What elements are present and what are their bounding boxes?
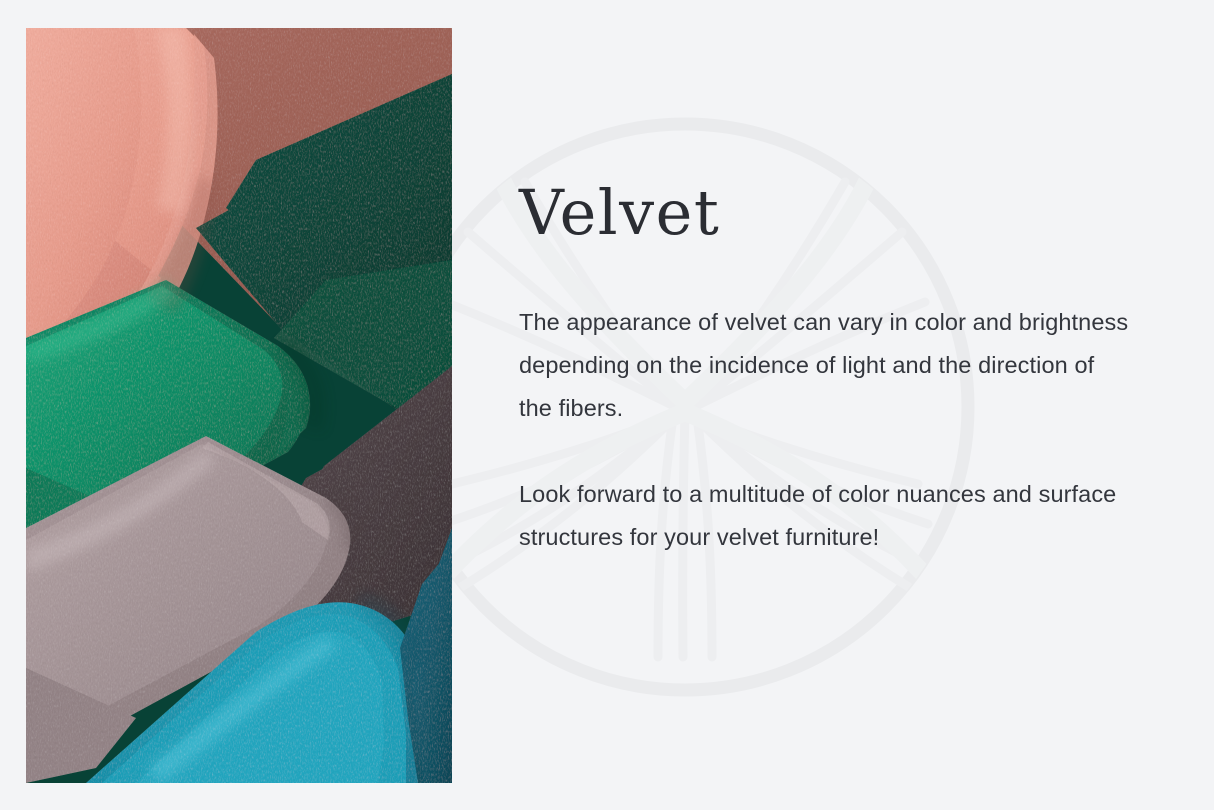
- page-title: Velvet: [519, 180, 1129, 245]
- velvet-feature-page: Velvet The appearance of velvet can vary…: [0, 0, 1214, 810]
- content-column: Velvet The appearance of velvet can vary…: [519, 180, 1129, 559]
- description-paragraph-2: Look forward to a multitude of color nua…: [519, 473, 1129, 559]
- velvet-fabric-photo: [26, 28, 452, 783]
- description-paragraph-1: The appearance of velvet can vary in col…: [519, 301, 1129, 430]
